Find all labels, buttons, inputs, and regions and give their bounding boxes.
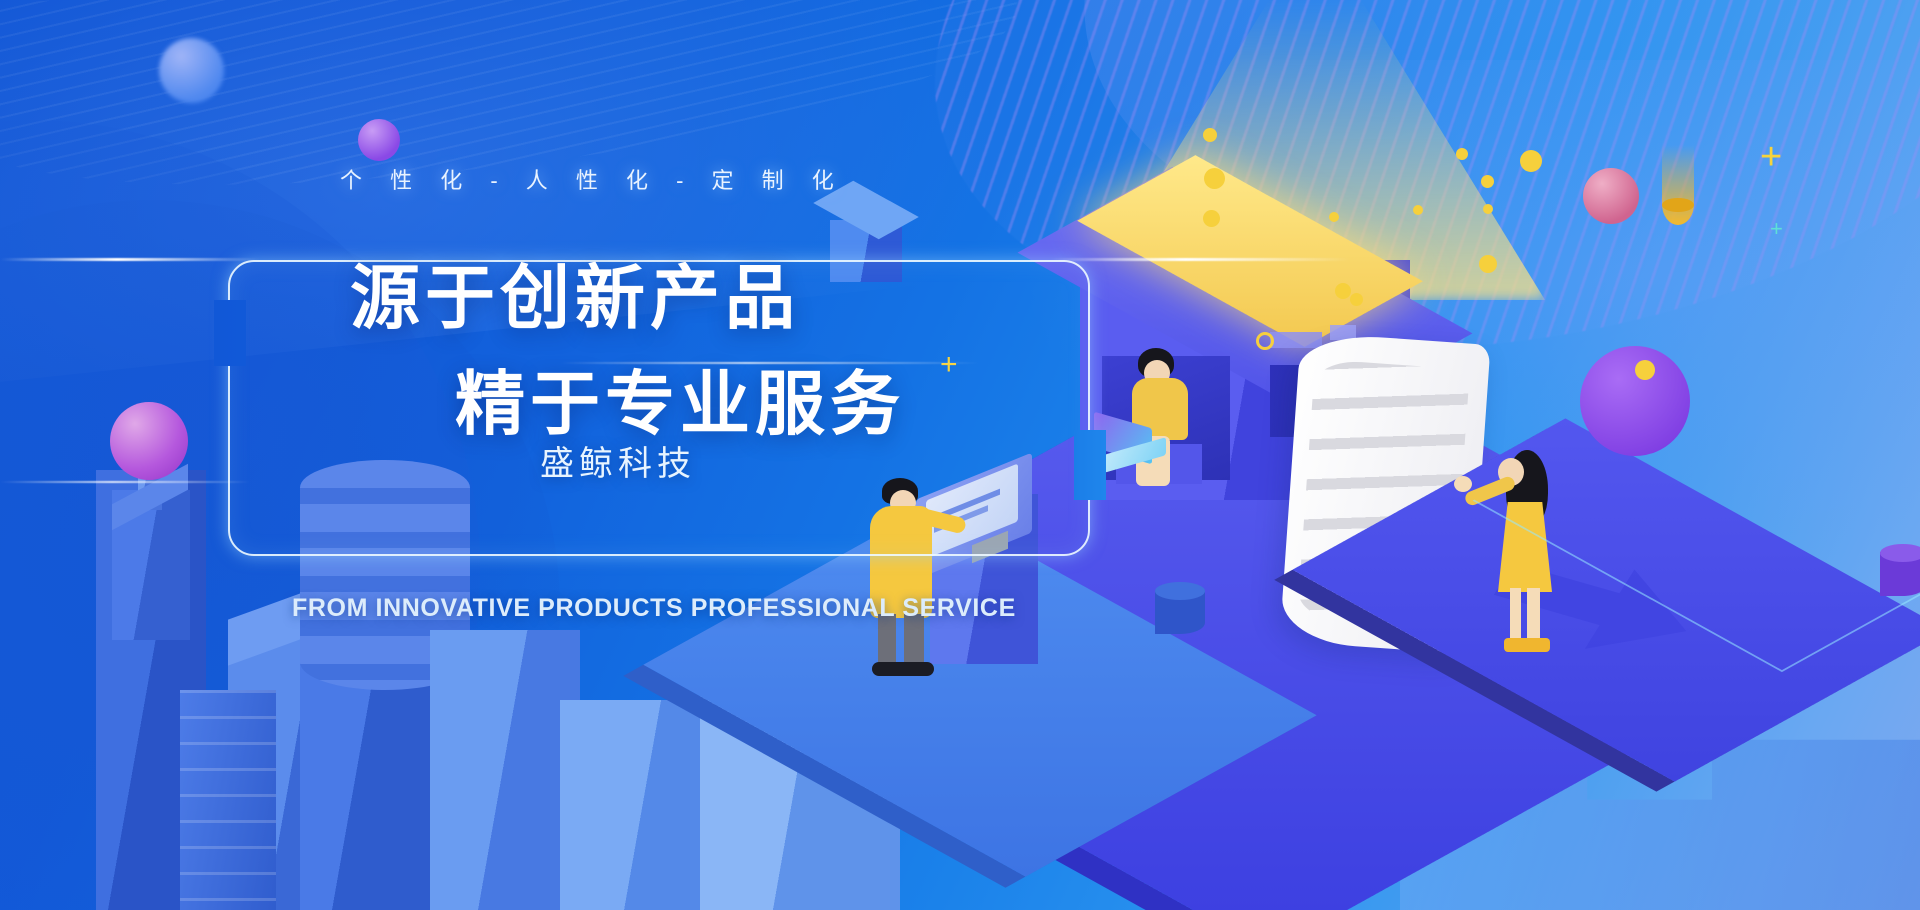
yellow-dot-5 <box>1483 204 1493 214</box>
cylinder-top-ellipse <box>1662 198 1694 212</box>
yellow-dot-10 <box>1335 283 1351 299</box>
yellow-dot-3 <box>1203 128 1217 142</box>
yellow-ring-icon <box>1256 332 1274 350</box>
light-streak-bottom <box>0 481 250 483</box>
teal-plus-icon: + <box>1770 218 1783 240</box>
headline-line-1: 源于创新产品 <box>350 242 800 343</box>
yellow-dot-12 <box>1350 293 1363 306</box>
yellow-plus-icon-right: + <box>1760 138 1782 176</box>
yellow-dot-6 <box>1413 205 1423 215</box>
yellow-dot-11 <box>1479 255 1497 273</box>
falling-yellow-cylinder <box>1662 145 1694 225</box>
sphere-pink-top-right <box>1583 168 1639 224</box>
hero-banner: + + + 个 性 化 - 人 性 化 - 定 制 化 源于创新产品 精于专业服… <box>0 0 1920 910</box>
light-streak-top-left <box>0 258 260 261</box>
yellow-dot-1 <box>1520 150 1542 172</box>
yellow-dot-13 <box>1635 360 1655 380</box>
standing-woman-hand <box>1454 476 1472 492</box>
banner-text-content: 个 性 化 - 人 性 化 - 定 制 化 源于创新产品 精于专业服务 盛鲸科技… <box>0 0 1180 700</box>
frame-gap-left <box>214 300 246 366</box>
yellow-dot-4 <box>1204 168 1225 189</box>
yellow-dot-9 <box>1456 148 1468 160</box>
yellow-dot-2 <box>1481 175 1494 188</box>
banner-subtitle-english: FROM INNOVATIVE PRODUCTS PROFESSIONAL SE… <box>292 594 1016 623</box>
standing-woman-shoes <box>1504 638 1550 652</box>
frame-gap-right <box>1074 430 1106 500</box>
headline-line-2: 精于专业服务 <box>455 348 905 449</box>
light-streak-top-right <box>1050 258 1350 261</box>
yellow-dot-8 <box>1329 212 1339 222</box>
purple-cylinder-right-top <box>1880 544 1920 562</box>
banner-tagline: 个 性 化 - 人 性 化 - 定 制 化 <box>340 163 845 195</box>
yellow-dot-7 <box>1203 210 1220 227</box>
city-building-striped <box>250 670 370 910</box>
machine-indicator-light-1 <box>1270 332 1322 348</box>
company-name: 盛鲸科技 <box>540 436 696 485</box>
standing-woman-legs <box>1510 588 1540 644</box>
